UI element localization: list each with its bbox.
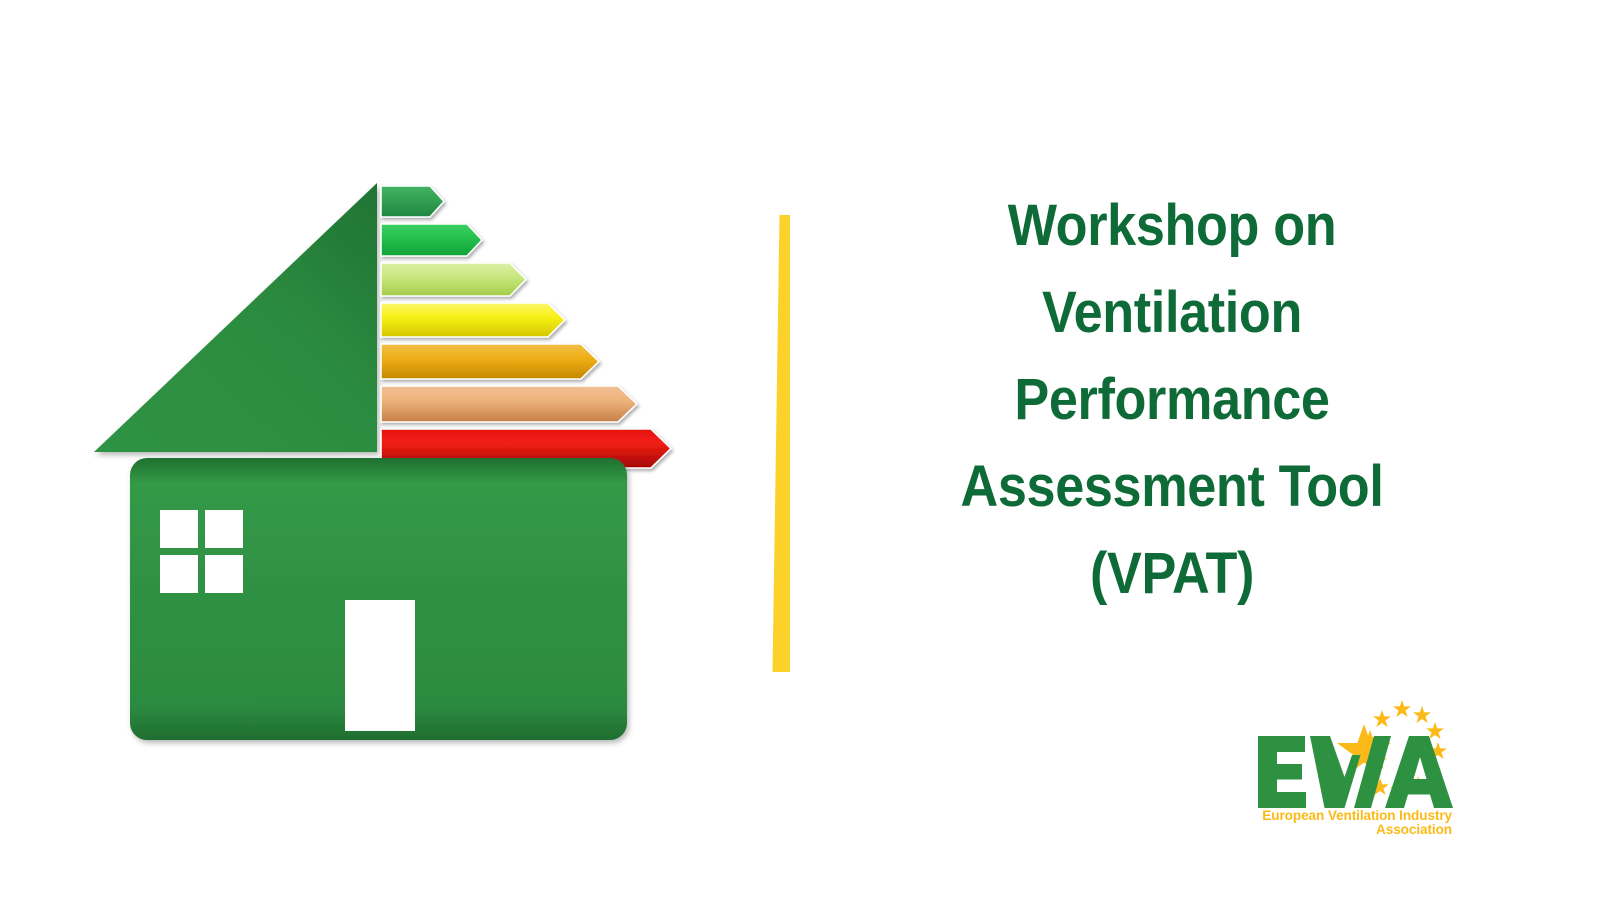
- energy-house-graphic: [80, 165, 700, 745]
- energy-bar-c: [381, 263, 526, 296]
- energy-rating-bars: [381, 186, 671, 468]
- title-block: Workshop on Ventilation Performance Asse…: [848, 182, 1496, 617]
- energy-bar-b: [381, 224, 482, 256]
- logo-tagline-line2: Association: [1376, 822, 1452, 837]
- energy-bar-a: [381, 186, 444, 217]
- evia-logo: European Ventilation Industry Associatio…: [1252, 662, 1452, 828]
- page-title: Workshop on Ventilation Performance Asse…: [880, 182, 1463, 617]
- house-door: [345, 600, 415, 731]
- energy-bar-d: [381, 303, 565, 337]
- logo-tagline-line1: European Ventilation Industry: [1262, 808, 1452, 823]
- energy-bar-f: [381, 386, 637, 422]
- vertical-accent-bar: [760, 200, 820, 700]
- energy-bar-e: [381, 344, 599, 379]
- house-roof: [94, 183, 377, 452]
- slide-canvas: Workshop on Ventilation Performance Asse…: [0, 0, 1600, 900]
